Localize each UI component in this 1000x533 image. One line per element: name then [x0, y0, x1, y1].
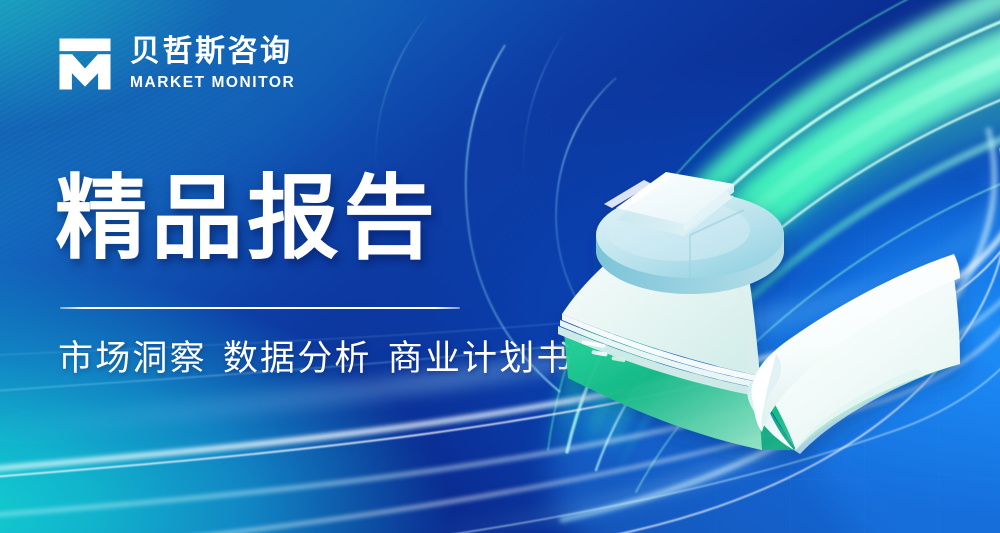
subtitle-item-0: 市场洞察 [58, 339, 207, 378]
report-banner: 贝哲斯咨询 MARKET MONITOR 精品报告 市场洞察数据分析商业计划书 [0, 0, 1000, 533]
page-title: 精品报告 [55, 172, 439, 268]
brand-logo-text: 贝哲斯咨询 MARKET MONITOR [130, 36, 295, 92]
page-subtitle: 市场洞察数据分析商业计划书 [58, 335, 574, 382]
company-name-en: MARKET MONITOR [130, 73, 295, 92]
title-divider [60, 307, 460, 309]
pie-chart-disc-group [596, 172, 784, 294]
subtitle-item-1: 数据分析 [223, 339, 372, 378]
market-monitor-m-mark-icon [57, 36, 113, 92]
subtitle-item-2: 商业计划书 [388, 339, 574, 378]
brand-logo[interactable]: 贝哲斯咨询 MARKET MONITOR [57, 36, 295, 92]
open-book-illustration [548, 150, 968, 470]
company-name-cn: 贝哲斯咨询 [130, 36, 295, 68]
